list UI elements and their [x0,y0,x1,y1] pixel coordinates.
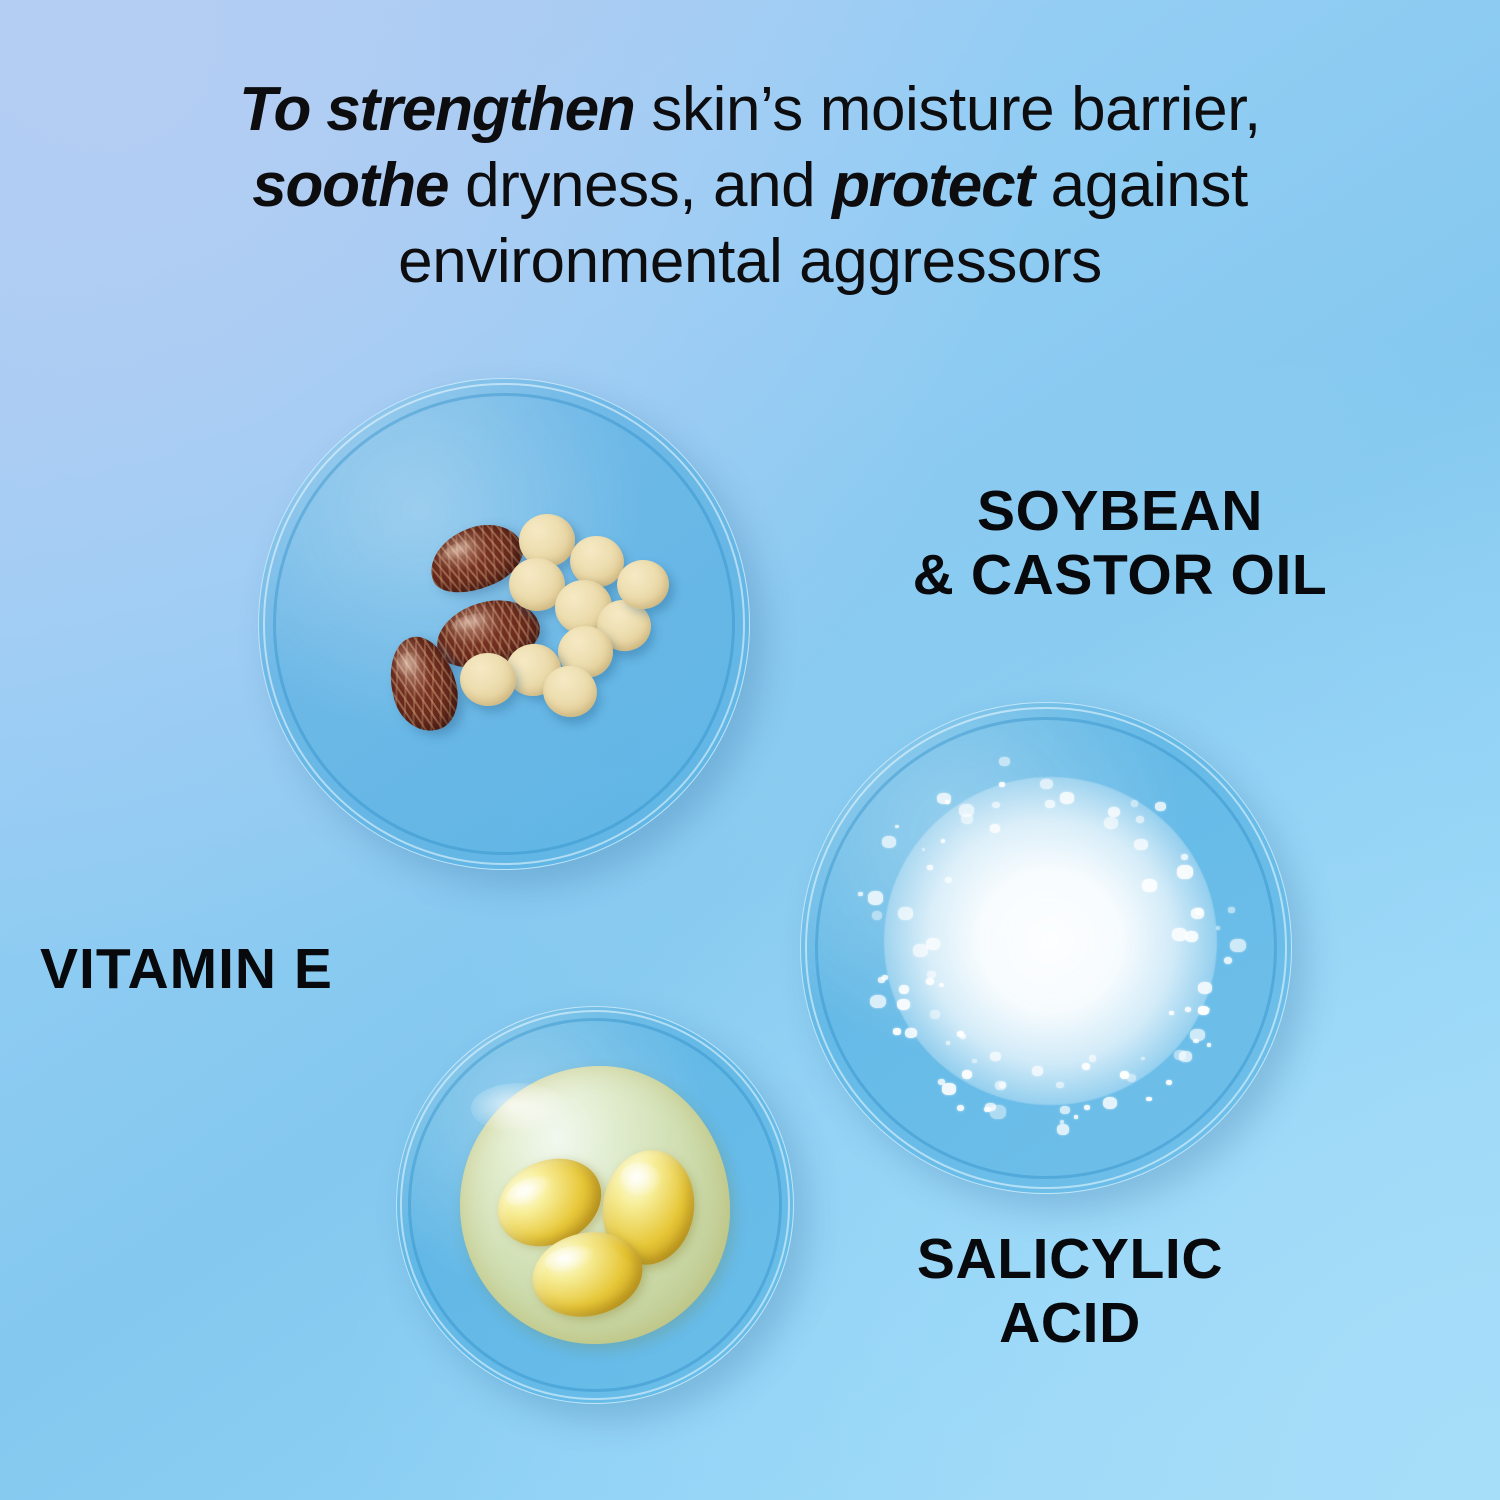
dish-inner-ring-line [815,717,1278,1180]
headline-line-2-rest: against [1034,151,1248,220]
dish-inner-ring-line [273,393,736,856]
headline-emphasis-strengthen: To strengthen [239,75,634,144]
headline: To strengthen skin’s moisture barrier, s… [0,72,1500,300]
petri-dish-salicylic-acid [800,702,1292,1194]
infographic-canvas: To strengthen skin’s moisture barrier, s… [0,0,1500,1500]
label-salicylic-acid: SALICYLIC ACID [820,1228,1320,1356]
headline-line-2-mid: dryness, and [448,151,832,220]
label-vitamin-e: VITAMIN E [40,938,500,1002]
headline-line-1: To strengthen skin’s moisture barrier, [0,72,1500,148]
headline-emphasis-protect: protect [832,151,1034,220]
headline-line-1-rest: skin’s moisture barrier, [635,75,1261,144]
label-soybean-castor-oil: SOYBEAN & CASTOR OIL [820,480,1420,608]
petri-dish-soybean-castor [258,378,750,870]
dish-inner-ring-line [408,1018,782,1392]
headline-emphasis-soothe: soothe [252,151,448,220]
headline-line-2: soothe dryness, and protect against [0,148,1500,224]
headline-line-3: environmental aggressors [0,224,1500,300]
petri-dish-vitamin-e [396,1006,794,1404]
